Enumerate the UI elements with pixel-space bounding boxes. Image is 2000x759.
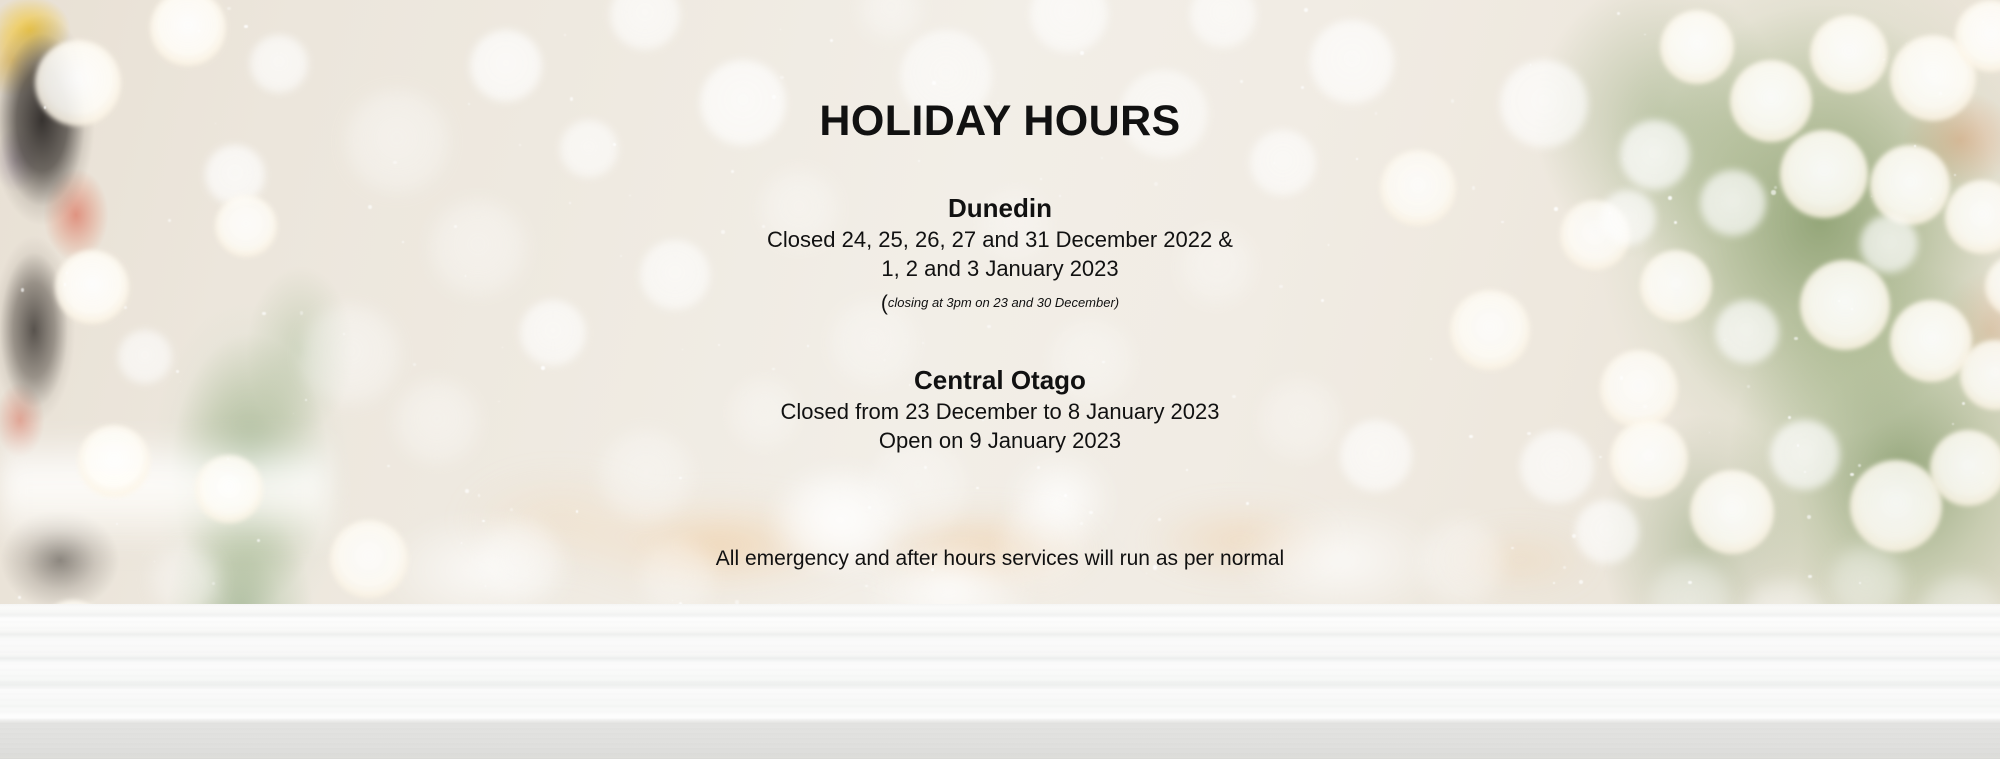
location-block-central-otago: Central Otago Closed from 23 December to… [0,365,2000,455]
note-text: closing at 3pm on 23 and 30 December) [888,295,1119,310]
note-open-parenthesis: ( [881,292,888,315]
page-title: HOLIDAY HOURS [0,100,2000,143]
location-dunedin-line-1: Closed 24, 25, 26, 27 and 31 December 20… [0,225,2000,254]
location-block-dunedin: Dunedin Closed 24, 25, 26, 27 and 31 Dec… [0,193,2000,317]
location-name-central-otago: Central Otago [0,365,2000,396]
location-dunedin-line-2: 1, 2 and 3 January 2023 [0,254,2000,283]
location-central-otago-line-2: Open on 9 January 2023 [0,426,2000,455]
location-name-dunedin: Dunedin [0,193,2000,224]
banner-content: HOLIDAY HOURS Dunedin Closed 24, 25, 26,… [0,0,2000,759]
location-dunedin-note: (closing at 3pm on 23 and 30 December) [0,290,2000,317]
location-central-otago-line-1: Closed from 23 December to 8 January 202… [0,397,2000,426]
footer-note: All emergency and after hours services w… [0,545,2000,572]
holiday-hours-banner: HOLIDAY HOURS Dunedin Closed 24, 25, 26,… [0,0,2000,759]
